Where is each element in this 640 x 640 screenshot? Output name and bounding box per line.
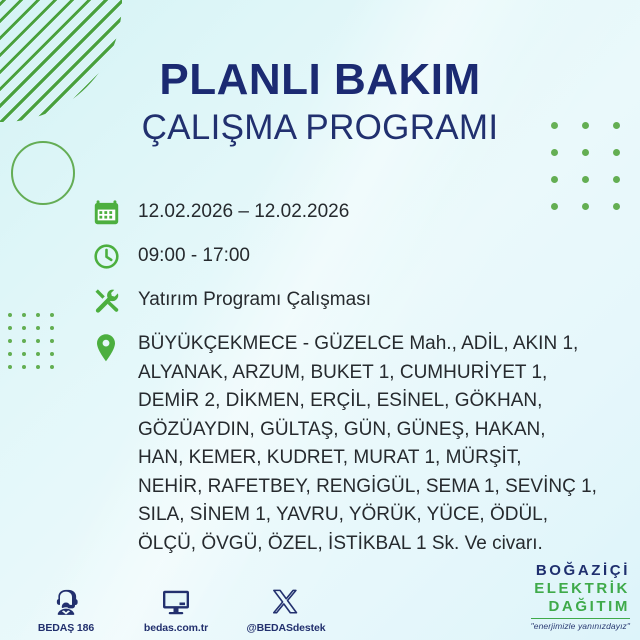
detail-row-time: 09:00 - 17:00 <box>86 242 606 270</box>
detail-row-work-type: Yatırım Programı Çalışması <box>86 286 606 314</box>
contact-website[interactable]: bedas.com.tr <box>134 583 218 634</box>
monitor-icon <box>134 583 218 617</box>
brand-line-elektrik: ELEKTRİK <box>531 581 630 596</box>
detail-row-location: BÜYÜKÇEKMECE - GÜZELCE Mah., ADİL, AKIN … <box>86 330 606 558</box>
brand-divider <box>531 618 630 619</box>
brand-tagline: "enerjimizle yanınızdayız" <box>531 622 630 631</box>
calendar-icon <box>86 198 126 226</box>
location-line: DEMİR 2, DİKMEN, ERÇİL, ESİNEL, GÖKHAN, <box>138 387 597 416</box>
location-line: GÖZÜAYDIN, GÜLTAŞ, GÜN, GÜNEŞ, HAKAN, <box>138 416 597 445</box>
contact-phone-label: BEDAŞ 186 <box>24 622 108 634</box>
work-type-value: Yatırım Programı Çalışması <box>126 286 371 314</box>
date-value: 12.02.2026 – 12.02.2026 <box>126 198 349 226</box>
contact-x-label: @BEDASdestek <box>244 622 328 634</box>
brand-line-bogazici: BOĞAZİÇİ <box>531 563 630 578</box>
contact-x-account[interactable]: @BEDASdestek <box>244 583 328 634</box>
location-line: NEHİR, RAFETBEY, RENGİGÜL, SEMA 1, SEVİN… <box>138 473 597 502</box>
contact-website-label: bedas.com.tr <box>134 622 218 634</box>
clock-icon <box>86 242 126 270</box>
dot-grid-left-decoration <box>8 313 64 378</box>
bedas-logo: BOĞAZİÇİ ELEKTRİK DAĞITIM "enerjimizle y… <box>531 563 630 631</box>
detail-row-date: 12.02.2026 – 12.02.2026 <box>86 198 606 226</box>
contact-channels: BEDAŞ 186 bedas.com.tr <box>24 583 328 634</box>
location-value: BÜYÜKÇEKMECE - GÜZELCE Mah., ADİL, AKIN … <box>126 330 597 558</box>
location-line: SILA, SİNEM 1, YAVRU, YÖRÜK, YÜCE, ÖDÜL, <box>138 501 597 530</box>
location-line: ÖLÇÜ, ÖVGÜ, ÖZEL, İSTİKBAL 1 Sk. Ve civa… <box>138 530 597 559</box>
location-line: BÜYÜKÇEKMECE - GÜZELCE Mah., ADİL, AKIN … <box>138 330 597 359</box>
time-value: 09:00 - 17:00 <box>126 242 250 270</box>
x-twitter-icon <box>244 583 328 617</box>
page-title: PLANLI BAKIM <box>0 58 640 102</box>
location-line: HAN, KEMER, KUDRET, MURAT 1, MÜRŞİT, <box>138 444 597 473</box>
tools-icon <box>86 286 126 314</box>
brand-line-dagitim: DAĞITIM <box>531 599 630 614</box>
support-agent-icon <box>24 583 108 617</box>
circle-outline-decoration <box>11 141 75 205</box>
location-line: ALYANAK, ARZUM, BUKET 1, CUMHURİYET 1, <box>138 359 597 388</box>
outage-details: 12.02.2026 – 12.02.2026 09:00 - 17:00 <box>86 198 606 574</box>
contact-phone[interactable]: BEDAŞ 186 <box>24 583 108 634</box>
location-pin-icon <box>86 330 126 363</box>
poster-heading: PLANLI BAKIM ÇALIŞMA PROGRAMI <box>0 58 640 145</box>
poster-footer: BEDAŞ 186 bedas.com.tr <box>0 570 640 640</box>
page-subtitle: ÇALIŞMA PROGRAMI <box>0 110 640 145</box>
planned-maintenance-poster: PLANLI BAKIM ÇALIŞMA PROGRAMI <box>0 0 640 640</box>
